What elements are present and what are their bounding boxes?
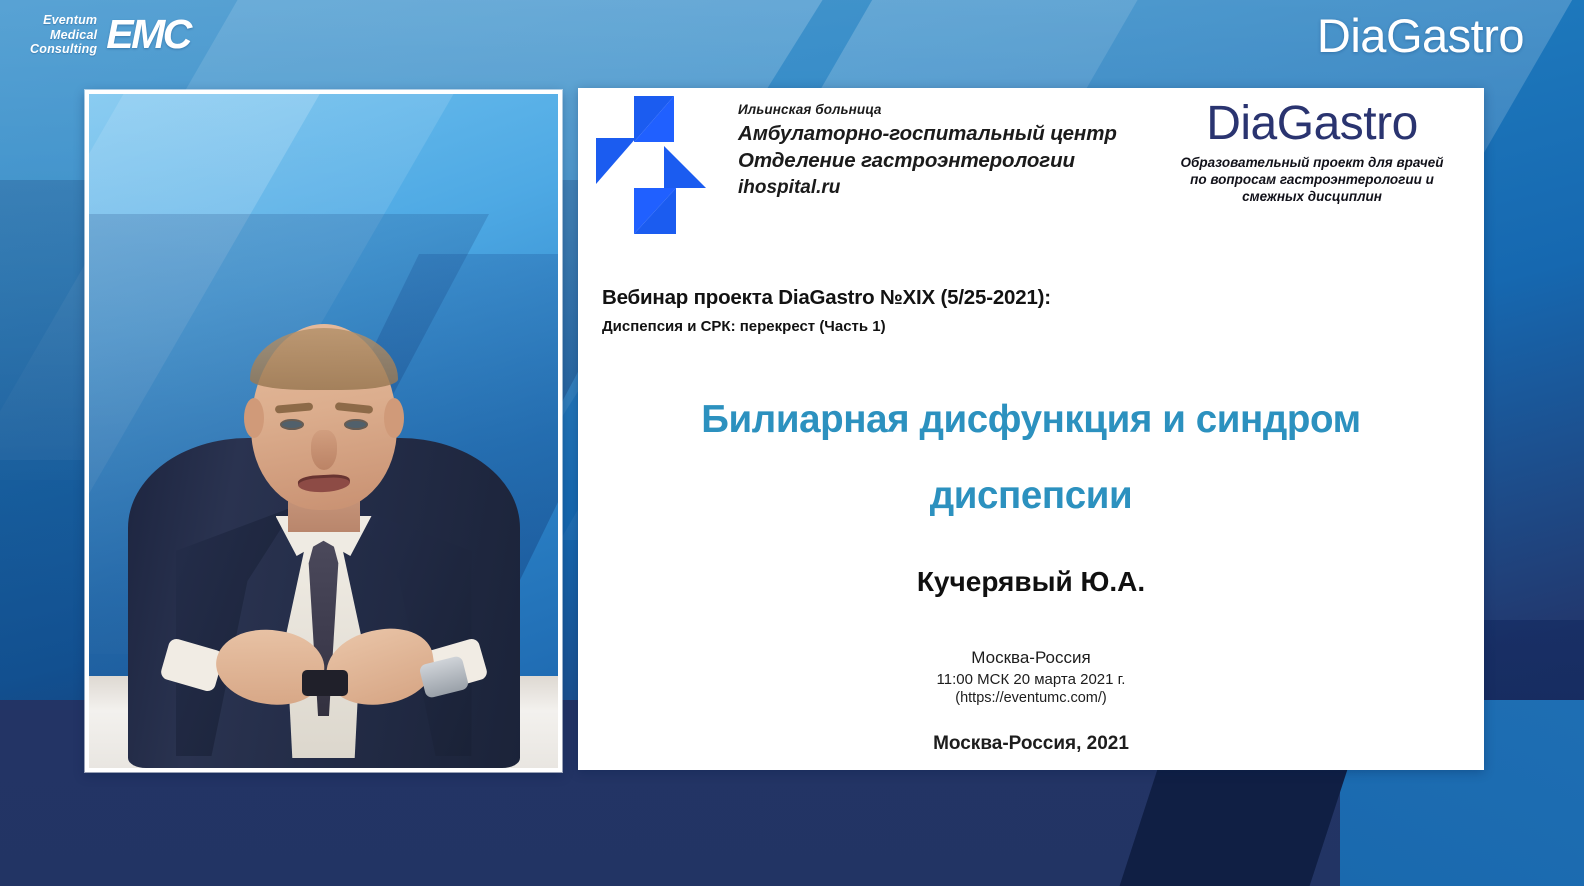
hospital-text-block: Ильинская больница Амбулаторно-госпиталь…	[738, 102, 1117, 199]
diagastro-wordmark-part1: Dia	[1206, 97, 1277, 150]
footer-place-year: Москва-Россия, 2021	[578, 733, 1484, 755]
webinar-subtitle: Диспепсия и СРК: перекрест (Часть 1)	[602, 318, 886, 335]
speaker-video-tile[interactable]	[85, 90, 562, 772]
diagastro-wordmark: DiaGastro	[1156, 100, 1468, 148]
speaker-video-feed	[89, 94, 558, 768]
footer-url: (https://eventumc.com/)	[578, 690, 1484, 706]
hospital-website: ihospital.ru	[738, 177, 1117, 199]
emc-logo-mark: EMC	[106, 15, 190, 54]
hospital-department: Отделение гастроэнтерологии	[738, 149, 1117, 173]
ear-right	[384, 398, 404, 438]
emc-logo-words: Eventum Medical Consulting	[30, 13, 97, 57]
webinar-series-line: Вебинар проекта DiaGastro №XIX (5/25-202…	[602, 286, 1051, 310]
nose	[311, 430, 337, 470]
ear-left	[244, 398, 264, 438]
eye-right	[344, 419, 368, 430]
diagastro-tagline: Образовательный проект для врачей по воп…	[1156, 154, 1468, 205]
diagastro-logo-slide: DiaGastro Образовательный проект для вра…	[1156, 100, 1468, 205]
webinar-stage: Eventum Medical Consulting EMC DiaGastro	[0, 0, 1584, 886]
slide-header: Ильинская больница Амбулаторно-госпиталь…	[578, 88, 1484, 238]
diagastro-tagline-line-2: по вопросам гастроэнтерологии и	[1156, 171, 1468, 188]
footer-place: Москва-Россия	[578, 648, 1484, 668]
eye-left	[280, 419, 304, 430]
diagastro-logo-header: DiaGastro	[1317, 12, 1524, 59]
slide-title: Билиарная дисфункция и синдром диспепсии	[618, 382, 1444, 534]
hospital-name: Ильинская больница	[738, 102, 1117, 117]
slide-footer: Москва-Россия 11:00 МСК 20 марта 2021 г.…	[578, 648, 1484, 755]
emc-logo-line-2: Medical	[30, 28, 97, 43]
diagastro-tagline-line-1: Образовательный проект для врачей	[1156, 154, 1468, 171]
speaker-name: Кучерявый Ю.А.	[578, 566, 1484, 598]
diagastro-logo-header-part2: Gastro	[1386, 9, 1524, 62]
diagastro-wordmark-part2: Gastro	[1277, 97, 1418, 150]
hair	[250, 328, 398, 390]
speaker-figure	[89, 208, 558, 768]
ilyinskaya-hospital-logo-icon	[590, 94, 708, 236]
presentation-slide[interactable]: Ильинская больница Амбулаторно-госпиталь…	[578, 88, 1484, 770]
diagastro-logo-header-part1: Dia	[1317, 9, 1386, 62]
handheld-object	[302, 670, 348, 696]
hospital-center: Амбулаторно-госпитальный центр	[738, 122, 1117, 146]
emc-logo-line-3: Consulting	[30, 42, 97, 57]
emc-logo-line-1: Eventum	[30, 13, 97, 28]
footer-datetime: 11:00 МСК 20 марта 2021 г.	[578, 671, 1484, 688]
diagastro-tagline-line-3: смежных дисциплин	[1156, 188, 1468, 205]
emc-logo: Eventum Medical Consulting EMC	[30, 13, 190, 57]
